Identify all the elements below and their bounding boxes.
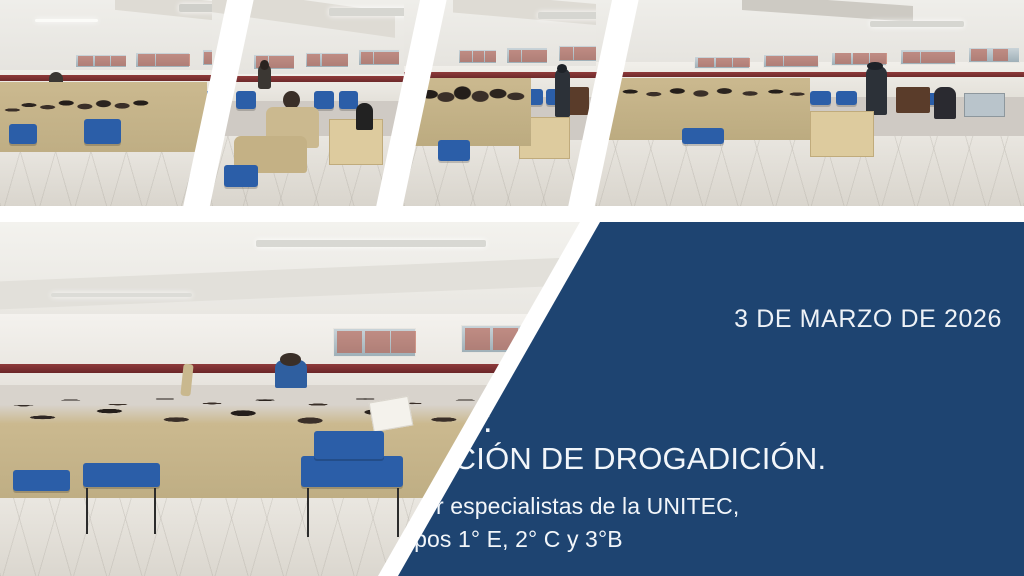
- lower-section: RESPETO, HONESTIDAD E INCLUSIÓN: [0, 212, 1024, 576]
- top-photo-strip: [0, 0, 1024, 206]
- event-subtitle-line-2: a los grupos 1° E, 2° C y 3°B: [325, 523, 1024, 556]
- photo-session-room-right: [596, 0, 1024, 206]
- poster-canvas: RESPETO, HONESTIDAD E INCLUSIÓN: [0, 0, 1024, 576]
